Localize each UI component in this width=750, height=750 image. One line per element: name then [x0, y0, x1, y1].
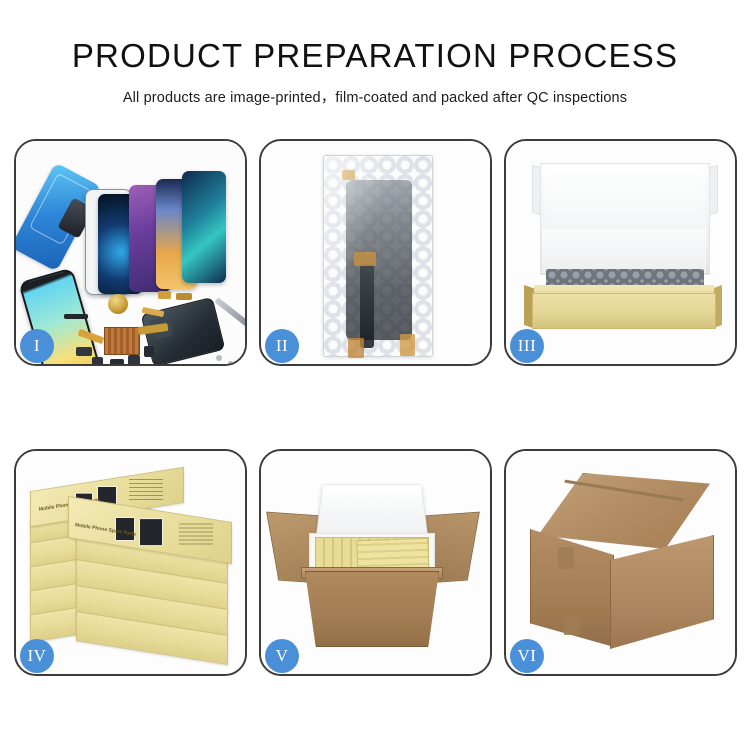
- page-header: PRODUCT PREPARATION PROCESS All products…: [0, 0, 750, 107]
- screw-1: [216, 355, 222, 361]
- foam-sheet: [542, 229, 706, 273]
- step-badge-4: IV: [20, 639, 54, 673]
- carton-packing-image: [261, 451, 490, 674]
- process-step-1[interactable]: I: [14, 139, 247, 366]
- lid-text-block-b: [179, 523, 213, 545]
- page-title: PRODUCT PREPARATION PROCESS: [0, 38, 750, 74]
- carton-right-face: [610, 535, 714, 649]
- lid-window-b2: [139, 518, 163, 546]
- screw-2: [228, 361, 233, 364]
- step-badge-1: I: [20, 329, 54, 363]
- small-part-1: [64, 314, 88, 319]
- process-step-4[interactable]: Mobile Phone Spare Parts Mobile Phone Sp…: [14, 449, 247, 676]
- process-step-3[interactable]: III: [504, 139, 737, 366]
- phone-screen-d: [182, 171, 226, 283]
- small-part-8: [176, 293, 192, 300]
- step-badge-2: II: [265, 329, 299, 363]
- small-part-6: [144, 346, 154, 357]
- process-step-6[interactable]: VI: [504, 449, 737, 676]
- process-step-2[interactable]: II: [259, 139, 492, 366]
- tape-piece-1: [354, 252, 376, 266]
- box-stack: Mobile Phone Spare Parts Mobile Phone Sp…: [28, 469, 236, 667]
- small-part-5: [76, 347, 92, 356]
- process-step-5[interactable]: V: [259, 449, 492, 676]
- wrapped-flex-cable: [360, 264, 374, 348]
- bubble-wrap-bag: [323, 155, 433, 357]
- carton-top-face: [538, 473, 710, 549]
- sealed-carton-image: [506, 451, 735, 674]
- carton-tape-upper: [558, 547, 574, 569]
- process-grid: I II III: [14, 139, 736, 676]
- carton-front-wall: [305, 571, 439, 647]
- step-badge-5: V: [265, 639, 299, 673]
- yellow-box-front: [532, 293, 716, 329]
- sealed-carton: [522, 473, 722, 653]
- small-part-7: [158, 291, 171, 299]
- small-part-3: [110, 359, 124, 364]
- step-badge-3: III: [510, 329, 544, 363]
- page-subtitle: All products are image-printed，film-coat…: [0, 86, 750, 107]
- tape-piece-2: [348, 338, 364, 358]
- stacked-boxes-image: Mobile Phone Spare Parts Mobile Phone Sp…: [16, 451, 245, 674]
- lid-text-block-a: [129, 479, 163, 501]
- carton-tape-lower: [564, 615, 580, 635]
- small-part-4: [128, 355, 140, 364]
- tape-piece-4: [342, 170, 355, 180]
- circuit-board-part: [104, 327, 140, 355]
- small-part-2: [92, 357, 103, 364]
- product-parts-image: [16, 141, 245, 364]
- bubble-wrap-image: [261, 141, 490, 364]
- foam-box-image: [506, 141, 735, 364]
- step-badge-6: VI: [510, 639, 544, 673]
- speaker-coil-part: [108, 294, 128, 314]
- tape-piece-3: [400, 334, 415, 356]
